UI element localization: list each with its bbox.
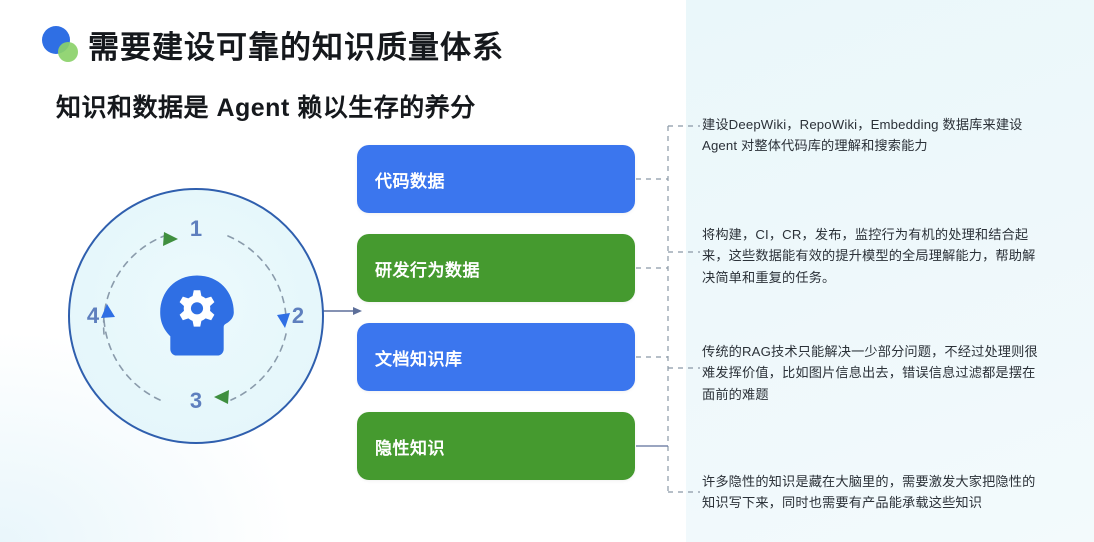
page-title: 需要建设可靠的知识质量体系 [88,22,504,67]
card-code-data[interactable]: 代码数据 [357,145,635,213]
card-label: 隐性知识 [375,434,445,459]
description-document-knowledge-base: 传统的RAG技术只能解决一少部分问题，不经过处理则很难发挥价值，比如图片信息出去… [702,341,1038,405]
two-circles-logo-icon [42,26,82,64]
description-code-data: 建设DeepWiki，RepoWiki，Embedding 数据库来建设 Age… [702,114,1038,157]
cycle-step-3: 3 [181,388,211,414]
card-dev-behavior-data[interactable]: 研发行为数据 [357,234,635,302]
page-subtitle: 知识和数据是 Agent 赖以生存的养分 [56,88,476,124]
card-tacit-knowledge[interactable]: 隐性知识 [357,412,635,480]
card-document-knowledge-base[interactable]: 文档知识库 [357,323,635,391]
description-dev-behavior-data: 将构建，CI，CR，发布，监控行为有机的处理和结合起来，这些数据能有效的提升模型… [702,224,1038,288]
logo-green-circle [58,42,78,62]
description-tacit-knowledge: 许多隐性的知识是藏在大脑里的，需要激发大家把隐性的知识写下来，同时也需要有产品能… [702,471,1038,514]
cycle-diagram: 1 2 3 4 [68,188,324,444]
cycle-step-1: 1 [181,216,211,242]
cycle-step-2: 2 [283,303,313,329]
card-label: 文档知识库 [375,345,463,370]
card-label: 代码数据 [375,167,445,192]
card-label: 研发行为数据 [375,256,480,281]
cycle-step-4: 4 [78,303,108,329]
head-with-gear-icon [151,269,243,363]
